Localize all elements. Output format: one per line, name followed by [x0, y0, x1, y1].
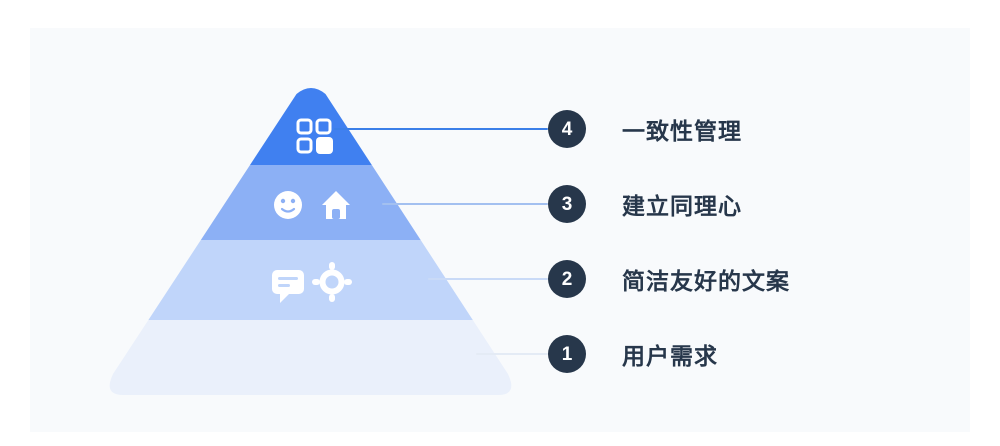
legend-row-level-2: 2 简洁友好的文案 — [548, 260, 790, 298]
level-badge-4: 4 — [548, 110, 586, 148]
legend-row-level-4: 4 一致性管理 — [548, 110, 742, 148]
level-label-3: 建立同理心 — [622, 187, 742, 221]
level-label-2: 简洁友好的文案 — [622, 262, 790, 296]
level-badge-2: 2 — [548, 260, 586, 298]
diagram-canvas: 4 一致性管理 3 建立同理心 2 简洁友好的文案 1 用户需求 — [0, 0, 1000, 446]
level-badge-1: 1 — [548, 335, 586, 373]
pyramid-graphic — [100, 82, 530, 402]
connector-line-level-4 — [334, 128, 548, 130]
pyramid-band-level-1 — [100, 320, 530, 402]
level-label-1: 用户需求 — [622, 337, 718, 371]
connector-line-level-2 — [428, 278, 548, 280]
connector-line-level-3 — [382, 203, 548, 205]
level-label-4: 一致性管理 — [622, 112, 742, 146]
legend-row-level-1: 1 用户需求 — [548, 335, 718, 373]
level-badge-3: 3 — [548, 185, 586, 223]
pyramid-band-level-4 — [100, 82, 530, 165]
legend-row-level-3: 3 建立同理心 — [548, 185, 742, 223]
smiley-face-icon — [274, 191, 302, 219]
connector-line-level-1 — [476, 353, 548, 355]
